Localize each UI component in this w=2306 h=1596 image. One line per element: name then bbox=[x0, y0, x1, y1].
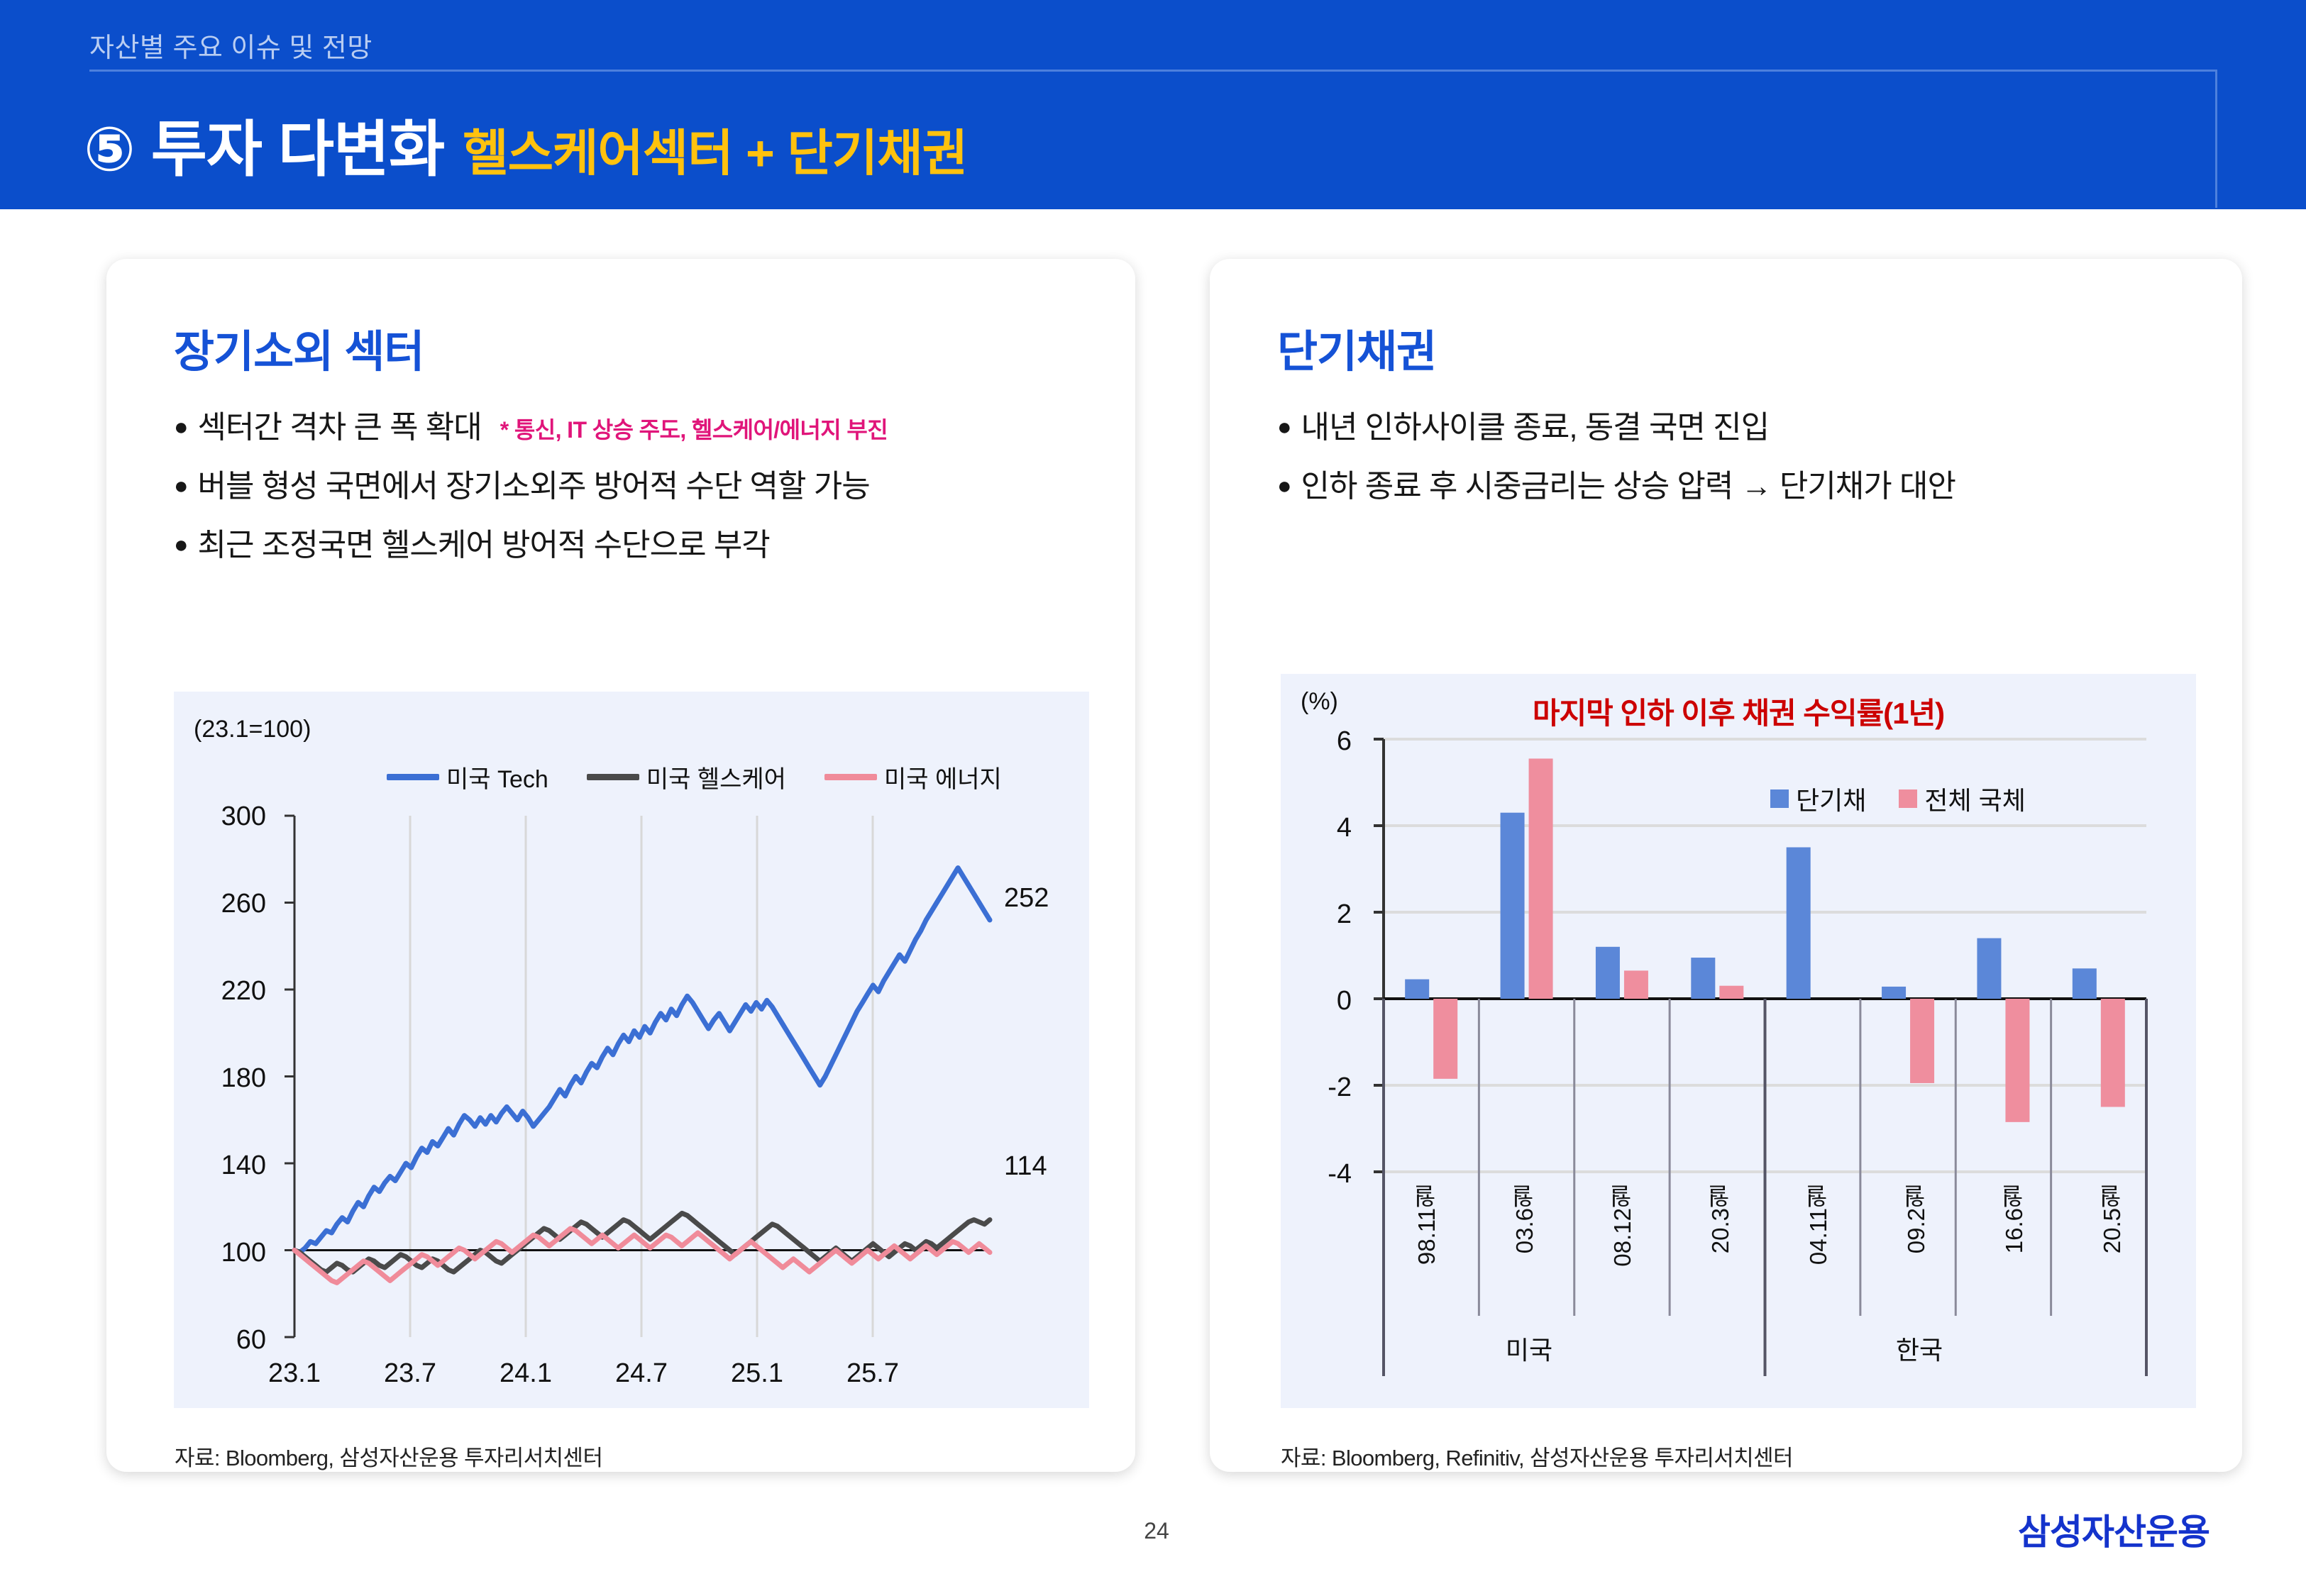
legend-item-short-bond: 단기채 bbox=[1770, 780, 1866, 817]
x-tick-label: 09.2월 bbox=[1899, 1185, 1933, 1253]
legend-item-healthcare: 미국 헬스케어 bbox=[587, 760, 786, 794]
legend-swatch-line bbox=[387, 774, 439, 780]
left-chart-legend: 미국 Tech 미국 헬스케어 미국 에너지 bbox=[387, 760, 1002, 794]
bullet-text: 내년 인하사이클 종료, 동결 국면 진입 bbox=[1301, 404, 1770, 452]
header-kicker: 자산별 주요 이슈 및 전망 bbox=[89, 26, 373, 65]
x-tick-label: 20.5월 bbox=[2095, 1185, 2129, 1253]
header-right-divider bbox=[2215, 70, 2217, 208]
right-chart-plot bbox=[1281, 674, 2196, 1408]
right-chart-source: 자료: Bloomberg, Refinitiv, 삼성자산운용 투자리서치센터 bbox=[1281, 1440, 1793, 1472]
legend-label: 단기채 bbox=[1796, 780, 1866, 817]
legend-item-all-govt-bond: 전체 국체 bbox=[1899, 780, 2025, 817]
legend-swatch-line bbox=[824, 774, 877, 780]
page-title-main: ⑤ 투자 다변화 bbox=[84, 99, 444, 188]
end-value-label-tech: 252 bbox=[1004, 883, 1049, 914]
x-tick-label: 24.7 bbox=[585, 1358, 698, 1389]
page-title: ⑤ 투자 다변화 헬스케어섹터 + 단기채권 bbox=[84, 99, 967, 188]
y-tick-label: 180 bbox=[181, 1063, 266, 1094]
legend-label: 전체 국체 bbox=[1924, 780, 2025, 817]
left-bullet-list: ● 섹터간 격차 큰 폭 확대 * 통신, IT 상승 주도, 헬스케어/에너지… bbox=[174, 404, 1089, 581]
x-tick-label: 04.11월 bbox=[1802, 1185, 1836, 1265]
bullet-dot-icon: ● bbox=[174, 474, 188, 498]
y-tick-label: 60 bbox=[181, 1325, 266, 1356]
group-label-us: 미국 bbox=[1373, 1330, 1685, 1367]
y-tick-label: 220 bbox=[181, 976, 266, 1007]
y-tick-label: 100 bbox=[181, 1238, 266, 1268]
list-item: ● 인하 종료 후 시중금리는 상승 압력 → 단기채가 대안 bbox=[1277, 463, 2192, 511]
page-title-sub: 헬스케어섹터 + 단기채권 bbox=[463, 113, 967, 185]
x-tick-label: 25.7 bbox=[816, 1358, 929, 1389]
legend-label: 미국 Tech bbox=[446, 760, 548, 794]
y-tick-label: 2 bbox=[1288, 899, 1352, 930]
legend-item-energy: 미국 에너지 bbox=[824, 760, 1002, 794]
legend-label: 미국 헬스케어 bbox=[646, 760, 786, 794]
right-panel-card: 단기채권 ● 내년 인하사이클 종료, 동결 국면 진입 ● 인하 종료 후 시… bbox=[1210, 259, 2242, 1472]
end-value-label-healthcare: 114 bbox=[1004, 1151, 1047, 1182]
left-line-chart: (23.1=100) 미국 Tech 미국 헬스케어 미국 에너지 300 26… bbox=[174, 692, 1089, 1408]
bullet-text: 인하 종료 후 시중금리는 상승 압력 → 단기채가 대안 bbox=[1301, 463, 1955, 511]
y-tick-label: 4 bbox=[1288, 813, 1352, 843]
x-tick-label: 03.6월 bbox=[1508, 1185, 1542, 1253]
y-tick-label: 6 bbox=[1288, 726, 1352, 757]
bullet-text: 섹터간 격차 큰 폭 확대 bbox=[198, 404, 482, 452]
bullet-dot-icon: ● bbox=[174, 415, 188, 439]
bullet-note: * 통신, IT 상승 주도, 헬스케어/에너지 부진 bbox=[500, 413, 888, 448]
legend-item-tech: 미국 Tech bbox=[387, 760, 548, 794]
right-chart-title: 마지막 인하 이후 채권 수익률(1년) bbox=[1281, 689, 2196, 733]
right-bar-chart: (%) 마지막 인하 이후 채권 수익률(1년) 단기채 전체 국체 6 4 2… bbox=[1281, 674, 2196, 1408]
x-tick-label: 24.1 bbox=[469, 1358, 583, 1389]
list-item: ● 섹터간 격차 큰 폭 확대 * 통신, IT 상승 주도, 헬스케어/에너지… bbox=[174, 404, 1089, 452]
x-tick-label: 98.11월 bbox=[1410, 1185, 1444, 1265]
company-logo: 삼성자산운용 bbox=[2018, 1504, 2210, 1555]
list-item: ● 최근 조정국면 헬스케어 방어적 수단으로 부각 bbox=[174, 522, 1089, 570]
right-chart-legend: 단기채 전체 국체 bbox=[1770, 780, 2026, 817]
page-number: 24 bbox=[1135, 1518, 1178, 1544]
group-label-korea: 한국 bbox=[1763, 1330, 2075, 1367]
bullet-text: 버블 형성 국면에서 장기소외주 방어적 수단 역할 가능 bbox=[198, 463, 870, 511]
left-panel-card: 장기소외 섹터 ● 섹터간 격차 큰 폭 확대 * 통신, IT 상승 주도, … bbox=[106, 259, 1135, 1472]
x-tick-label: 16.6월 bbox=[1997, 1185, 2031, 1253]
x-tick-label: 20.3월 bbox=[1704, 1185, 1738, 1253]
legend-swatch-square bbox=[1770, 789, 1789, 808]
right-bullet-list: ● 내년 인하사이클 종료, 동결 국면 진입 ● 인하 종료 후 시중금리는 … bbox=[1277, 404, 2192, 522]
y-tick-label: 0 bbox=[1288, 986, 1352, 1016]
bullet-dot-icon: ● bbox=[1277, 474, 1291, 498]
slide: 자산별 주요 이슈 및 전망 ⑤ 투자 다변화 헬스케어섹터 + 단기채권 장기… bbox=[0, 0, 2306, 1596]
left-chart-source: 자료: Bloomberg, 삼성자산운용 투자리서치센터 bbox=[175, 1440, 602, 1472]
list-item: ● 버블 형성 국면에서 장기소외주 방어적 수단 역할 가능 bbox=[174, 463, 1089, 511]
x-tick-label: 25.1 bbox=[700, 1358, 814, 1389]
left-panel-title: 장기소외 섹터 bbox=[174, 316, 424, 379]
y-tick-label: 300 bbox=[181, 802, 266, 832]
x-tick-label: 23.7 bbox=[353, 1358, 467, 1389]
legend-swatch-square bbox=[1899, 789, 1917, 808]
header-divider bbox=[89, 70, 2215, 72]
legend-label: 미국 에너지 bbox=[884, 760, 1002, 794]
legend-swatch-line bbox=[587, 774, 639, 780]
bullet-text: 최근 조정국면 헬스케어 방어적 수단으로 부각 bbox=[198, 522, 770, 570]
y-tick-label: -2 bbox=[1288, 1073, 1352, 1103]
left-chart-unit-label: (23.1=100) bbox=[194, 716, 311, 743]
bullet-dot-icon: ● bbox=[1277, 415, 1291, 439]
x-tick-label: 08.12월 bbox=[1606, 1185, 1640, 1267]
y-tick-label: -4 bbox=[1288, 1159, 1352, 1190]
y-tick-label: 260 bbox=[181, 889, 266, 919]
y-tick-label: 140 bbox=[181, 1151, 266, 1181]
left-chart-plot bbox=[174, 692, 1089, 1408]
list-item: ● 내년 인하사이클 종료, 동결 국면 진입 bbox=[1277, 404, 2192, 452]
x-tick-label: 23.1 bbox=[238, 1358, 351, 1389]
bullet-dot-icon: ● bbox=[174, 533, 188, 557]
right-panel-title: 단기채권 bbox=[1277, 316, 1436, 379]
